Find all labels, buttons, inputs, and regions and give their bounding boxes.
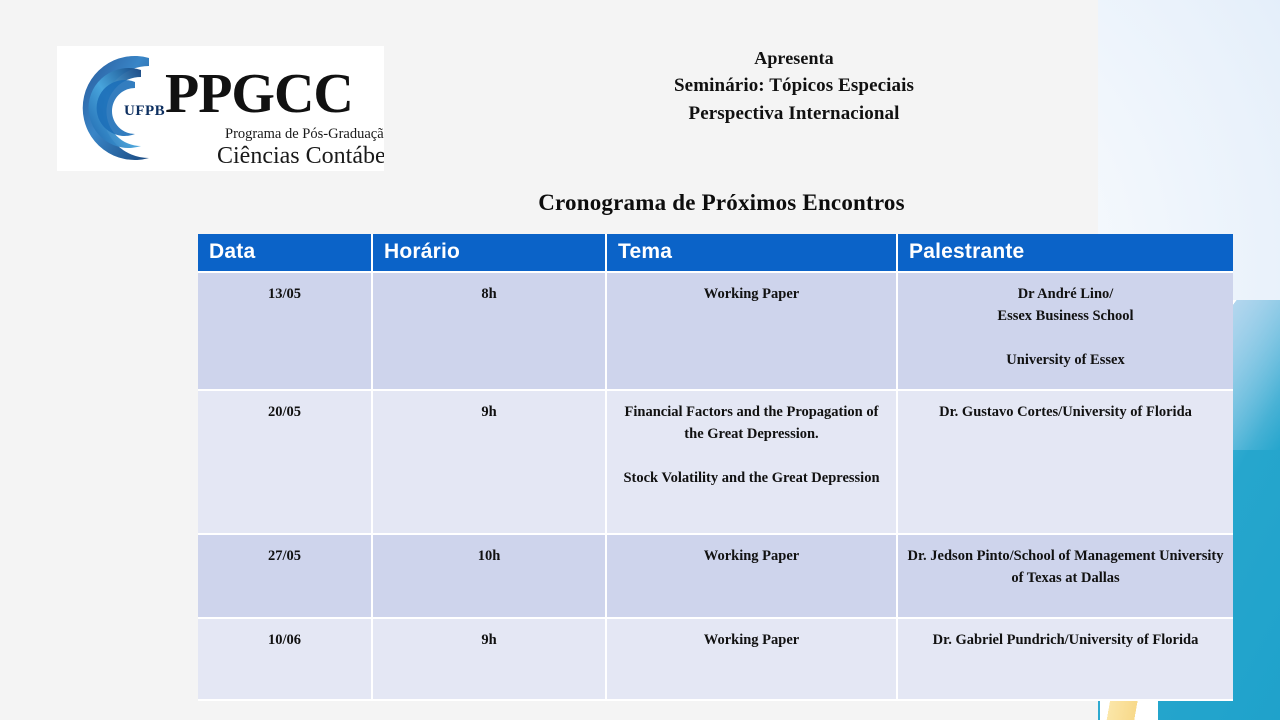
- table-header-row: Data Horário Tema Palestrante: [198, 234, 1233, 273]
- cell-horario: 10h: [373, 535, 607, 619]
- cell-horario: 9h: [373, 619, 607, 701]
- table-row: 27/05 10h Working Paper Dr. Jedson Pinto…: [198, 535, 1233, 619]
- table-row: 20/05 9h Financial Factors and the Propa…: [198, 391, 1233, 535]
- column-header-horario[interactable]: Horário: [373, 234, 607, 273]
- cell-horario: 8h: [373, 273, 607, 391]
- header-line-perspectiva: Perspectiva Internacional: [520, 100, 1068, 128]
- schedule-table-container: Data Horário Tema Palestrante 13/05 8h W…: [198, 234, 1233, 701]
- cell-horario: 9h: [373, 391, 607, 535]
- column-header-palestrante[interactable]: Palestrante: [898, 234, 1233, 273]
- cell-tema: Financial Factors and the Propagation of…: [607, 391, 898, 535]
- palestrante-line: University of Essex: [906, 349, 1225, 371]
- cell-data: 13/05: [198, 273, 373, 391]
- cell-data: 10/06: [198, 619, 373, 701]
- table-row: 13/05 8h Working Paper Dr André Lino/ Es…: [198, 273, 1233, 391]
- cell-palestrante: Dr. Gabriel Pundrich/University of Flori…: [898, 619, 1233, 701]
- logo-subtitle-line1: Programa de Pós-Graduação em: [225, 126, 384, 142]
- tema-line: Working Paper: [615, 545, 888, 567]
- column-header-data[interactable]: Data: [198, 234, 373, 273]
- tema-line: Stock Volatility and the Great Depressio…: [615, 467, 888, 489]
- cell-data: 27/05: [198, 535, 373, 619]
- cell-palestrante: Dr. Jedson Pinto/School of Management Un…: [898, 535, 1233, 619]
- palestrante-line: Dr. Gustavo Cortes/University of Florida: [906, 401, 1225, 423]
- cell-tema: Working Paper: [607, 619, 898, 701]
- header-line-apresenta: Apresenta: [520, 44, 1068, 72]
- schedule-table: Data Horário Tema Palestrante 13/05 8h W…: [198, 234, 1233, 701]
- palestrante-line: Dr André Lino/: [906, 283, 1225, 305]
- slide-canvas: UFPB PPGCC Programa de Pós-Graduação em …: [0, 0, 1280, 720]
- logo-ufpb-text: UFPB: [124, 103, 165, 119]
- ppgcc-logo: UFPB PPGCC Programa de Pós-Graduação em …: [57, 46, 384, 171]
- page-title: Cronograma de Próximos Encontros: [0, 190, 1280, 216]
- cell-palestrante: Dr André Lino/ Essex Business School Uni…: [898, 273, 1233, 391]
- logo-subtitle-line2: Ciências Contábeis: [217, 143, 384, 169]
- palestrante-line: Dr. Jedson Pinto/School of Management Un…: [906, 545, 1225, 589]
- table-row: 10/06 9h Working Paper Dr. Gabriel Pundr…: [198, 619, 1233, 701]
- tema-line: Working Paper: [615, 629, 888, 651]
- cell-tema: Working Paper: [607, 535, 898, 619]
- tema-spacer: [615, 445, 888, 467]
- cell-palestrante: Dr. Gustavo Cortes/University of Florida: [898, 391, 1233, 535]
- logo-ppgcc-text: PPGCC: [165, 63, 353, 125]
- cell-tema: Working Paper: [607, 273, 898, 391]
- cell-data: 20/05: [198, 391, 373, 535]
- palestrante-line: Essex Business School: [906, 305, 1225, 327]
- palestrante-line: Dr. Gabriel Pundrich/University of Flori…: [906, 629, 1225, 651]
- column-header-tema[interactable]: Tema: [607, 234, 898, 273]
- tema-line: Working Paper: [615, 283, 888, 305]
- tema-line: Financial Factors and the Propagation of…: [615, 401, 888, 445]
- palestrante-spacer: [906, 327, 1225, 349]
- header-line-seminario: Seminário: Tópicos Especiais: [520, 72, 1068, 100]
- presentation-header: Apresenta Seminário: Tópicos Especiais P…: [520, 44, 1068, 128]
